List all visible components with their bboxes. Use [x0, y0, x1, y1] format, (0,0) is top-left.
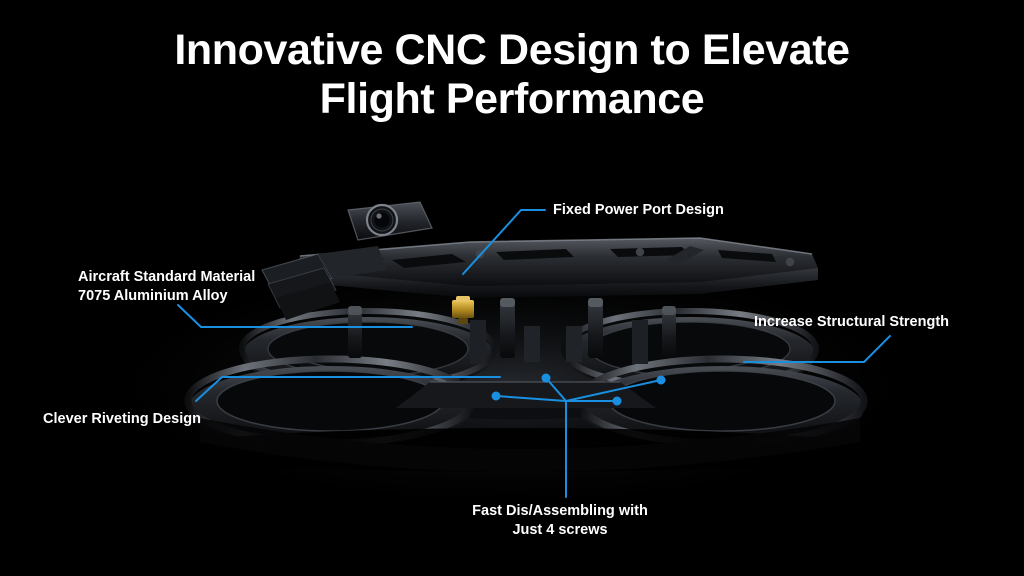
page-title: Innovative CNC Design to Elevate Flight …	[0, 26, 1024, 124]
callout-text-aircraft-material-line1: Aircraft Standard Material	[78, 268, 255, 287]
callout-text-clever-riveting-design: Clever Riveting Design	[43, 410, 201, 429]
callout-text-aircraft-material-line2: 7075 Aluminium Alloy	[78, 287, 255, 306]
callout-label-aircraft-material: Aircraft Standard Material 7075 Aluminiu…	[78, 268, 255, 306]
callout-text-fast-dis-assembling-line2: Just 4 screws	[457, 521, 663, 540]
callout-label-clever-riveting-design: Clever Riveting Design	[43, 410, 201, 429]
callout-label-increase-structural-strength: Increase Structural Strength	[754, 313, 949, 332]
slide-canvas: Innovative CNC Design to Elevate Flight …	[0, 0, 1024, 576]
callout-text-fixed-power-port: Fixed Power Port Design	[553, 201, 724, 220]
callout-text-fast-dis-assembling-line1: Fast Dis/Assembling with	[457, 502, 663, 521]
callout-text-increase-structural-strength: Increase Structural Strength	[754, 313, 949, 332]
callout-label-fixed-power-port: Fixed Power Port Design	[553, 201, 724, 220]
title-line-2: Flight Performance	[0, 75, 1024, 124]
camera-mount	[348, 202, 432, 240]
title-line-1: Innovative CNC Design to Elevate	[0, 26, 1024, 75]
callout-label-fast-dis-assembling: Fast Dis/Assembling with Just 4 screws	[457, 502, 663, 540]
